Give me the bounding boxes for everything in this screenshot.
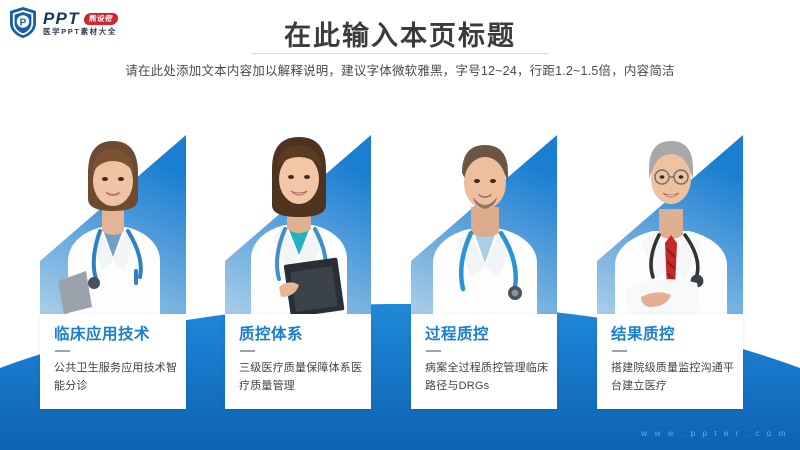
card-title-3: 过程质控	[425, 326, 557, 343]
card-desc-3: 病案全过程质控管理临床路径与DRGs	[425, 359, 549, 395]
doctor-portrait-4	[597, 111, 743, 314]
card-desc-1: 公共卫生服务应用技术智能分诊	[54, 359, 178, 395]
card-photo-4	[597, 111, 743, 314]
feature-card-4[interactable]: 结果质控 搭建院级质量监控沟通平台建立医疗	[597, 111, 743, 409]
feature-card-2[interactable]: 质控体系 三级医疗质量保障体系医疗质量管理	[225, 111, 371, 409]
card-body-3: 过程质控 病案全过程质控管理临床路径与DRGs	[411, 314, 557, 409]
card-title-4: 结果质控	[611, 326, 743, 343]
card-divider-1	[55, 350, 70, 352]
card-divider-4	[612, 350, 627, 352]
feature-card-1[interactable]: 临床应用技术 公共卫生服务应用技术智能分诊	[40, 111, 186, 409]
card-photo-2	[225, 111, 371, 314]
feature-card-3[interactable]: 过程质控 病案全过程质控管理临床路径与DRGs	[411, 111, 557, 409]
doctor-portrait-1	[40, 111, 186, 314]
card-photo-3	[411, 111, 557, 314]
card-title-1: 临床应用技术	[54, 326, 186, 343]
card-body-2: 质控体系 三级医疗质量保障体系医疗质量管理	[225, 314, 371, 409]
card-divider-3	[426, 350, 441, 352]
card-body-1: 临床应用技术 公共卫生服务应用技术智能分诊	[40, 314, 186, 409]
card-divider-2	[240, 350, 255, 352]
card-photo-1	[40, 111, 186, 314]
site-watermark: w w w . p p t e r . c o m	[641, 428, 788, 438]
doctor-portrait-3	[411, 111, 557, 314]
doctor-portrait-2	[225, 111, 371, 314]
slide-canvas: P PPT 熊设密 医学PPT素材大全 在此输入本页标题 请在此处添加文本内容加…	[0, 0, 800, 450]
feature-card-list: 临床应用技术 公共卫生服务应用技术智能分诊	[0, 0, 800, 450]
card-body-4: 结果质控 搭建院级质量监控沟通平台建立医疗	[597, 314, 743, 409]
card-desc-2: 三级医疗质量保障体系医疗质量管理	[239, 359, 363, 395]
card-title-2: 质控体系	[239, 326, 371, 343]
card-desc-4: 搭建院级质量监控沟通平台建立医疗	[611, 359, 735, 395]
